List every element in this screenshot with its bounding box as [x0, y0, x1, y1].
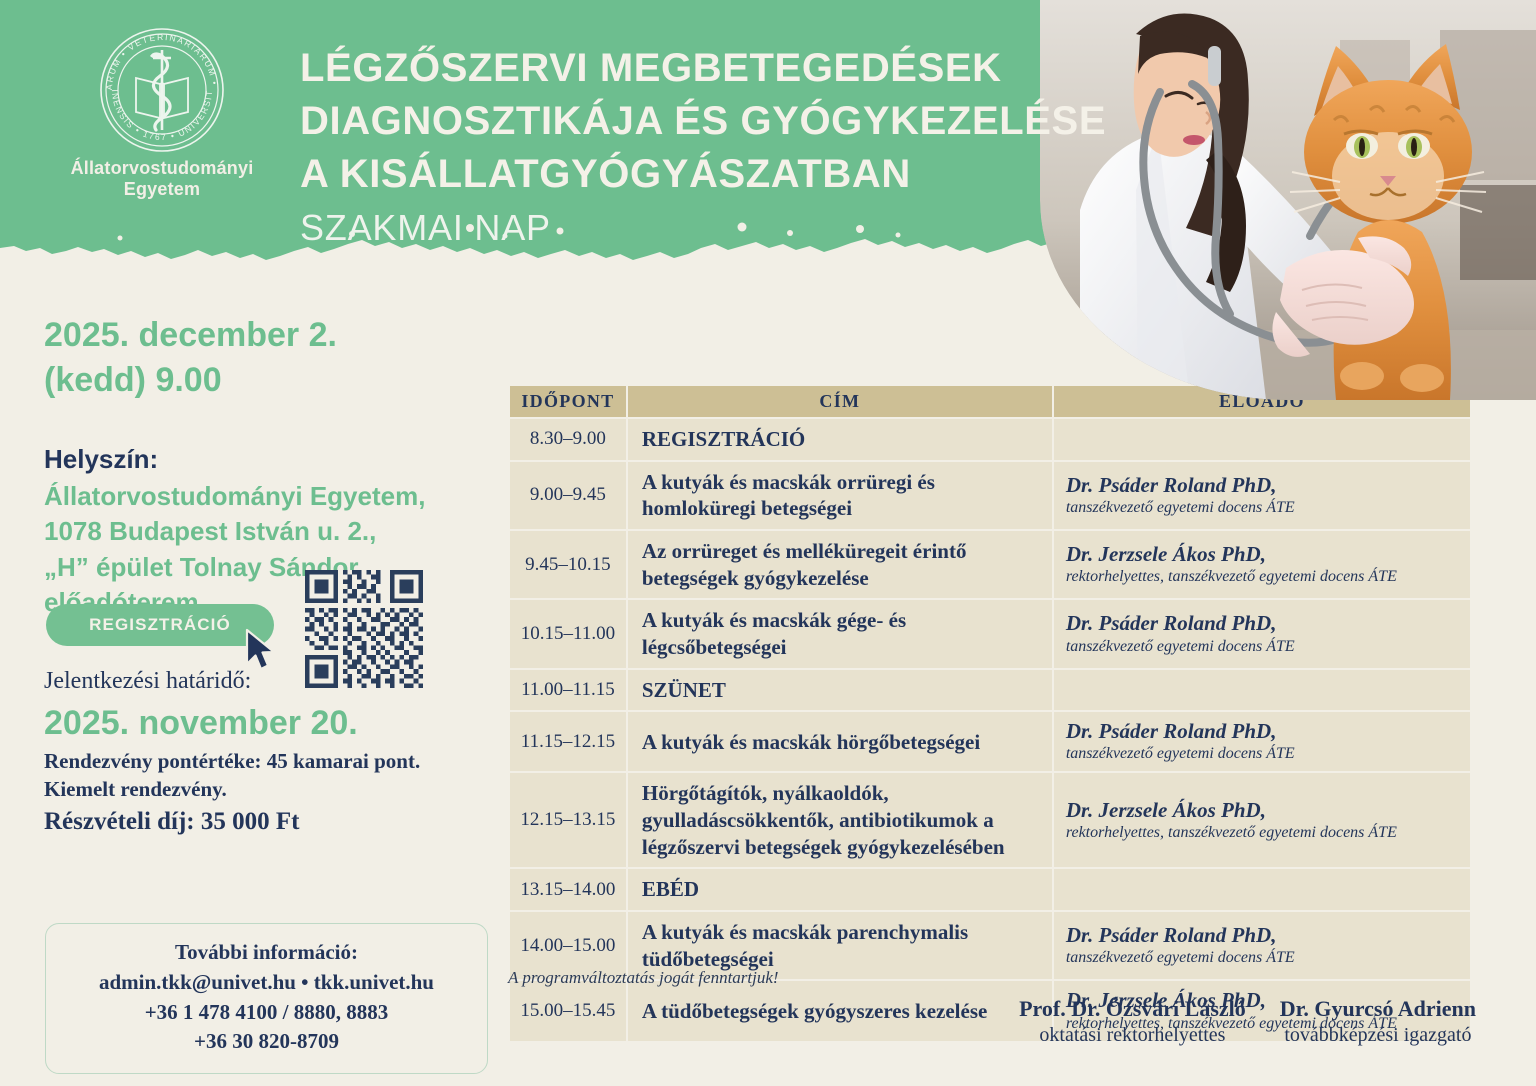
row-time: 12.15–13.15 — [518, 809, 618, 831]
signatory-2: Dr. Gyurcsó Adrienn továbbképzési igazga… — [1280, 995, 1476, 1048]
program-table-body: 8.30–9.00 REGISZTRÁCIÓ 9.00–9.45 A kutyá… — [510, 419, 1470, 1041]
event-date-line1: 2025. december 2. — [44, 313, 484, 358]
credit-points-info: Rendezvény pontértéke: 45 kamarai pont. … — [44, 748, 504, 804]
points-line1: Rendezvény pontértéke: 45 kamarai pont. — [44, 748, 504, 776]
row-title: A tüdőbetegségek gyógyszeres kezelése — [628, 981, 1052, 1040]
speaker-role: rektorhelyettes, tanszékvezető egyetemi … — [1066, 823, 1462, 843]
row-speaker — [1054, 869, 1470, 910]
speaker-name: Dr. Psáder Roland PhD, — [1066, 719, 1462, 744]
row-title: EBÉD — [628, 869, 1052, 910]
row-title: A kutyák és macskák gége- és légcsőbeteg… — [628, 600, 1052, 667]
table-row: 8.30–9.00 REGISZTRÁCIÓ — [510, 419, 1470, 460]
row-title: REGISZTRÁCIÓ — [628, 419, 1052, 460]
row-title: Az orrüreget és melléküregeit érintő bet… — [628, 531, 1052, 598]
table-row: 10.15–11.00 A kutyák és macskák gége- és… — [510, 600, 1470, 667]
table-row: 11.00–11.15 SZÜNET — [510, 670, 1470, 711]
title-line-1: LÉGZŐSZERVI MEGBETEGEDÉSEK — [300, 42, 1080, 95]
registration-button[interactable]: REGISZTRÁCIÓ — [46, 604, 274, 646]
row-time: 8.30–9.00 — [518, 428, 618, 450]
poster-title: LÉGZŐSZERVI MEGBETEGEDÉSEK DIAGNOSZTIKÁJ… — [300, 42, 1080, 251]
vet-cat-illustration — [1040, 0, 1536, 400]
registration-deadline: Jelentkezési határidő: 2025. november 20… — [44, 665, 484, 746]
speaker-name: Dr. Jerzsele Ákos PhD, — [1066, 798, 1462, 823]
event-date-line2: (kedd) 9.00 — [44, 358, 484, 403]
contact-phone-landline[interactable]: +36 1 478 4100 / 8880, 8883 — [56, 998, 477, 1028]
row-time: 11.15–12.15 — [518, 731, 618, 753]
row-time: 14.00–15.00 — [518, 935, 618, 957]
row-speaker — [1054, 670, 1470, 711]
table-row: 9.00–9.45 A kutyák és macskák orrüregi é… — [510, 462, 1470, 529]
speaker-role: tanszékvezető egyetemi docens ÁTE — [1066, 948, 1462, 968]
venue-line1: Állatorvostudományi Egyetem, — [44, 479, 504, 514]
poster-root: SCIENTIARUM • VETERINARIARUM • BUDAPE ST… — [0, 0, 1536, 1086]
contact-email-web[interactable]: admin.tkk@univet.hu • tkk.univet.hu — [56, 968, 477, 998]
signatory-2-role: továbbképzési igazgató — [1280, 1023, 1476, 1048]
signatory-1-role: oktatási rektorhelyettes — [1019, 1023, 1246, 1048]
poster-subtitle: SZAKMAI NAP — [300, 205, 1080, 252]
row-time: 15.00–15.45 — [518, 1000, 618, 1022]
venue-label: Helyszín: — [44, 443, 504, 477]
table-row: 13.15–14.00 EBÉD — [510, 869, 1470, 910]
program-change-disclaimer: A programváltoztatás jogát fenntartjuk! — [508, 968, 779, 988]
header-title: CÍM — [628, 386, 1052, 417]
title-line-2: DIAGNOSZTIKÁJA ÉS GYÓGYKEZELÉSE — [300, 95, 1080, 148]
row-time: 13.15–14.00 — [518, 879, 618, 901]
university-logo: SCIENTIARUM • VETERINARIARUM • BUDAPE ST… — [52, 26, 272, 200]
row-title: SZÜNET — [628, 670, 1052, 711]
row-speaker: Dr. Psáder Roland PhD, tanszékvezető egy… — [1054, 912, 1470, 979]
contact-heading: További információ: — [56, 938, 477, 968]
table-row: 12.15–13.15 Hörgőtágítók, nyálkaoldók, g… — [510, 773, 1470, 867]
speaker-role: tanszékvezető egyetemi docens ÁTE — [1066, 637, 1462, 657]
speaker-role: rektorhelyettes, tanszékvezető egyetemi … — [1066, 567, 1462, 587]
deadline-date: 2025. november 20. — [44, 701, 484, 745]
row-speaker: Dr. Jerzsele Ákos PhD, rektorhelyettes, … — [1054, 531, 1470, 598]
row-speaker: Dr. Psáder Roland PhD, tanszékvezető egy… — [1054, 462, 1470, 529]
signatory-block: Prof. Dr. Ózsvári László oktatási rektor… — [1019, 995, 1476, 1048]
points-line2: Kiemelt rendezvény. — [44, 776, 504, 804]
row-speaker — [1054, 419, 1470, 460]
event-venue: Helyszín: Állatorvostudományi Egyetem, 1… — [44, 443, 504, 620]
row-time: 10.15–11.00 — [518, 623, 618, 645]
signatory-1-name: Prof. Dr. Ózsvári László — [1019, 995, 1246, 1023]
program-schedule-table: IDŐPONT CÍM ELŐADÓ 8.30–9.00 REGISZTRÁCI… — [508, 384, 1472, 1043]
row-time: 11.00–11.15 — [518, 679, 618, 701]
vet-with-cat-photo — [1040, 0, 1536, 400]
signatory-2-name: Dr. Gyurcsó Adrienn — [1280, 995, 1476, 1023]
logo-name-line2: Egyetem — [52, 179, 272, 200]
table-row: 9.45–10.15 Az orrüreget és melléküregeit… — [510, 531, 1470, 598]
row-speaker: Dr. Psáder Roland PhD, tanszékvezető egy… — [1054, 712, 1470, 771]
university-seal-icon: SCIENTIARUM • VETERINARIARUM • BUDAPE ST… — [98, 26, 226, 154]
contact-phone-mobile[interactable]: +36 30 820-8709 — [56, 1027, 477, 1057]
deadline-label: Jelentkezési határidő: — [44, 665, 484, 697]
header-time: IDŐPONT — [510, 386, 626, 417]
speaker-name: Dr. Psáder Roland PhD, — [1066, 473, 1462, 498]
row-title: A kutyák és macskák orrüregi és homlokür… — [628, 462, 1052, 529]
logo-name-line1: Állatorvostudományi — [52, 158, 272, 179]
signatory-1: Prof. Dr. Ózsvári László oktatási rektor… — [1019, 995, 1246, 1048]
speaker-name: Dr. Psáder Roland PhD, — [1066, 611, 1462, 636]
participation-fee: Részvételi díj: 35 000 Ft — [44, 808, 299, 836]
row-time: 9.45–10.15 — [518, 554, 618, 576]
venue-line2: 1078 Budapest István u. 2., — [44, 514, 504, 549]
contact-info-box: További információ: admin.tkk@univet.hu … — [45, 923, 488, 1074]
speaker-role: tanszékvezető egyetemi docens ÁTE — [1066, 744, 1462, 764]
row-speaker: Dr. Jerzsele Ákos PhD, rektorhelyettes, … — [1054, 773, 1470, 867]
table-row: 11.15–12.15 A kutyák és macskák hörgőbet… — [510, 712, 1470, 771]
venue-line3: „H” épület Tolnay Sándor — [44, 550, 504, 585]
event-date: 2025. december 2. (kedd) 9.00 — [44, 313, 484, 403]
row-time: 9.00–9.45 — [518, 484, 618, 506]
row-title: Hörgőtágítók, nyálkaoldók, gyulladáscsök… — [628, 773, 1052, 867]
speaker-name: Dr. Psáder Roland PhD, — [1066, 923, 1462, 948]
title-line-3: A KISÁLLATGYÓGYÁSZATBAN — [300, 148, 1080, 201]
row-speaker: Dr. Psáder Roland PhD, tanszékvezető egy… — [1054, 600, 1470, 667]
speaker-role: tanszékvezető egyetemi docens ÁTE — [1066, 498, 1462, 518]
row-title: A kutyák és macskák hörgőbetegségei — [628, 712, 1052, 771]
speaker-name: Dr. Jerzsele Ákos PhD, — [1066, 542, 1462, 567]
